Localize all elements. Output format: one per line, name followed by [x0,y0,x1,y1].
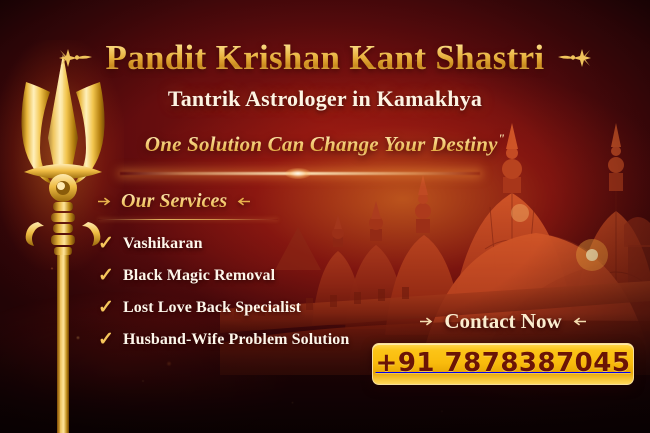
service-label: Lost Love Back Specialist [123,299,301,317]
arrow-right-small-icon [420,317,434,326]
tagline-text: One Solution Can Change Your Destiny [145,132,498,156]
tagline: One Solution Can Change Your Destiny" [0,131,650,157]
arrow-right-small-icon [98,197,112,206]
page-title: Pandit Krishan Kant Shastri [106,38,545,78]
list-item: ✓ Husband-Wife Problem Solution [98,330,398,349]
contact-section: Contact Now +91 7878387045 [372,309,634,385]
services-heading-row: Our Services [98,190,398,213]
services-list: ✓ Vashikaran ✓ Black Magic Removal ✓ Los… [98,234,398,349]
services-section: Our Services ✓ Vashikaran ✓ Black Magic … [98,190,398,362]
contact-heading: Contact Now [444,309,561,334]
list-item: ✓ Lost Love Back Specialist [98,298,398,317]
arrow-left-small-icon [236,197,250,206]
star-flourish-icon [58,46,94,70]
phone-number-button[interactable]: +91 7878387045 [372,343,634,385]
arrow-left-small-icon [572,317,586,326]
check-icon: ✓ [98,266,114,285]
star-flourish-icon [556,46,592,70]
divider-flare [285,168,311,179]
services-underline [98,219,278,220]
service-label: Black Magic Removal [123,267,275,285]
service-label: Husband-Wife Problem Solution [123,331,349,349]
astrologer-promo-banner: Pandit Krishan Kant Shastri Tantrik Astr… [0,0,650,433]
service-label: Vashikaran [123,235,203,253]
services-heading: Our Services [121,190,227,213]
page-subtitle: Tantrik Astrologer in Kamakhya [0,86,650,112]
check-icon: ✓ [98,330,114,349]
phone-number: +91 7878387045 [376,348,631,378]
list-item: ✓ Vashikaran [98,234,398,253]
list-item: ✓ Black Magic Removal [98,266,398,285]
tagline-quote-mark: " [498,131,505,146]
check-icon: ✓ [98,298,114,317]
contact-heading-row: Contact Now [372,309,634,334]
title-row: Pandit Krishan Kant Shastri [0,38,650,78]
check-icon: ✓ [98,234,114,253]
